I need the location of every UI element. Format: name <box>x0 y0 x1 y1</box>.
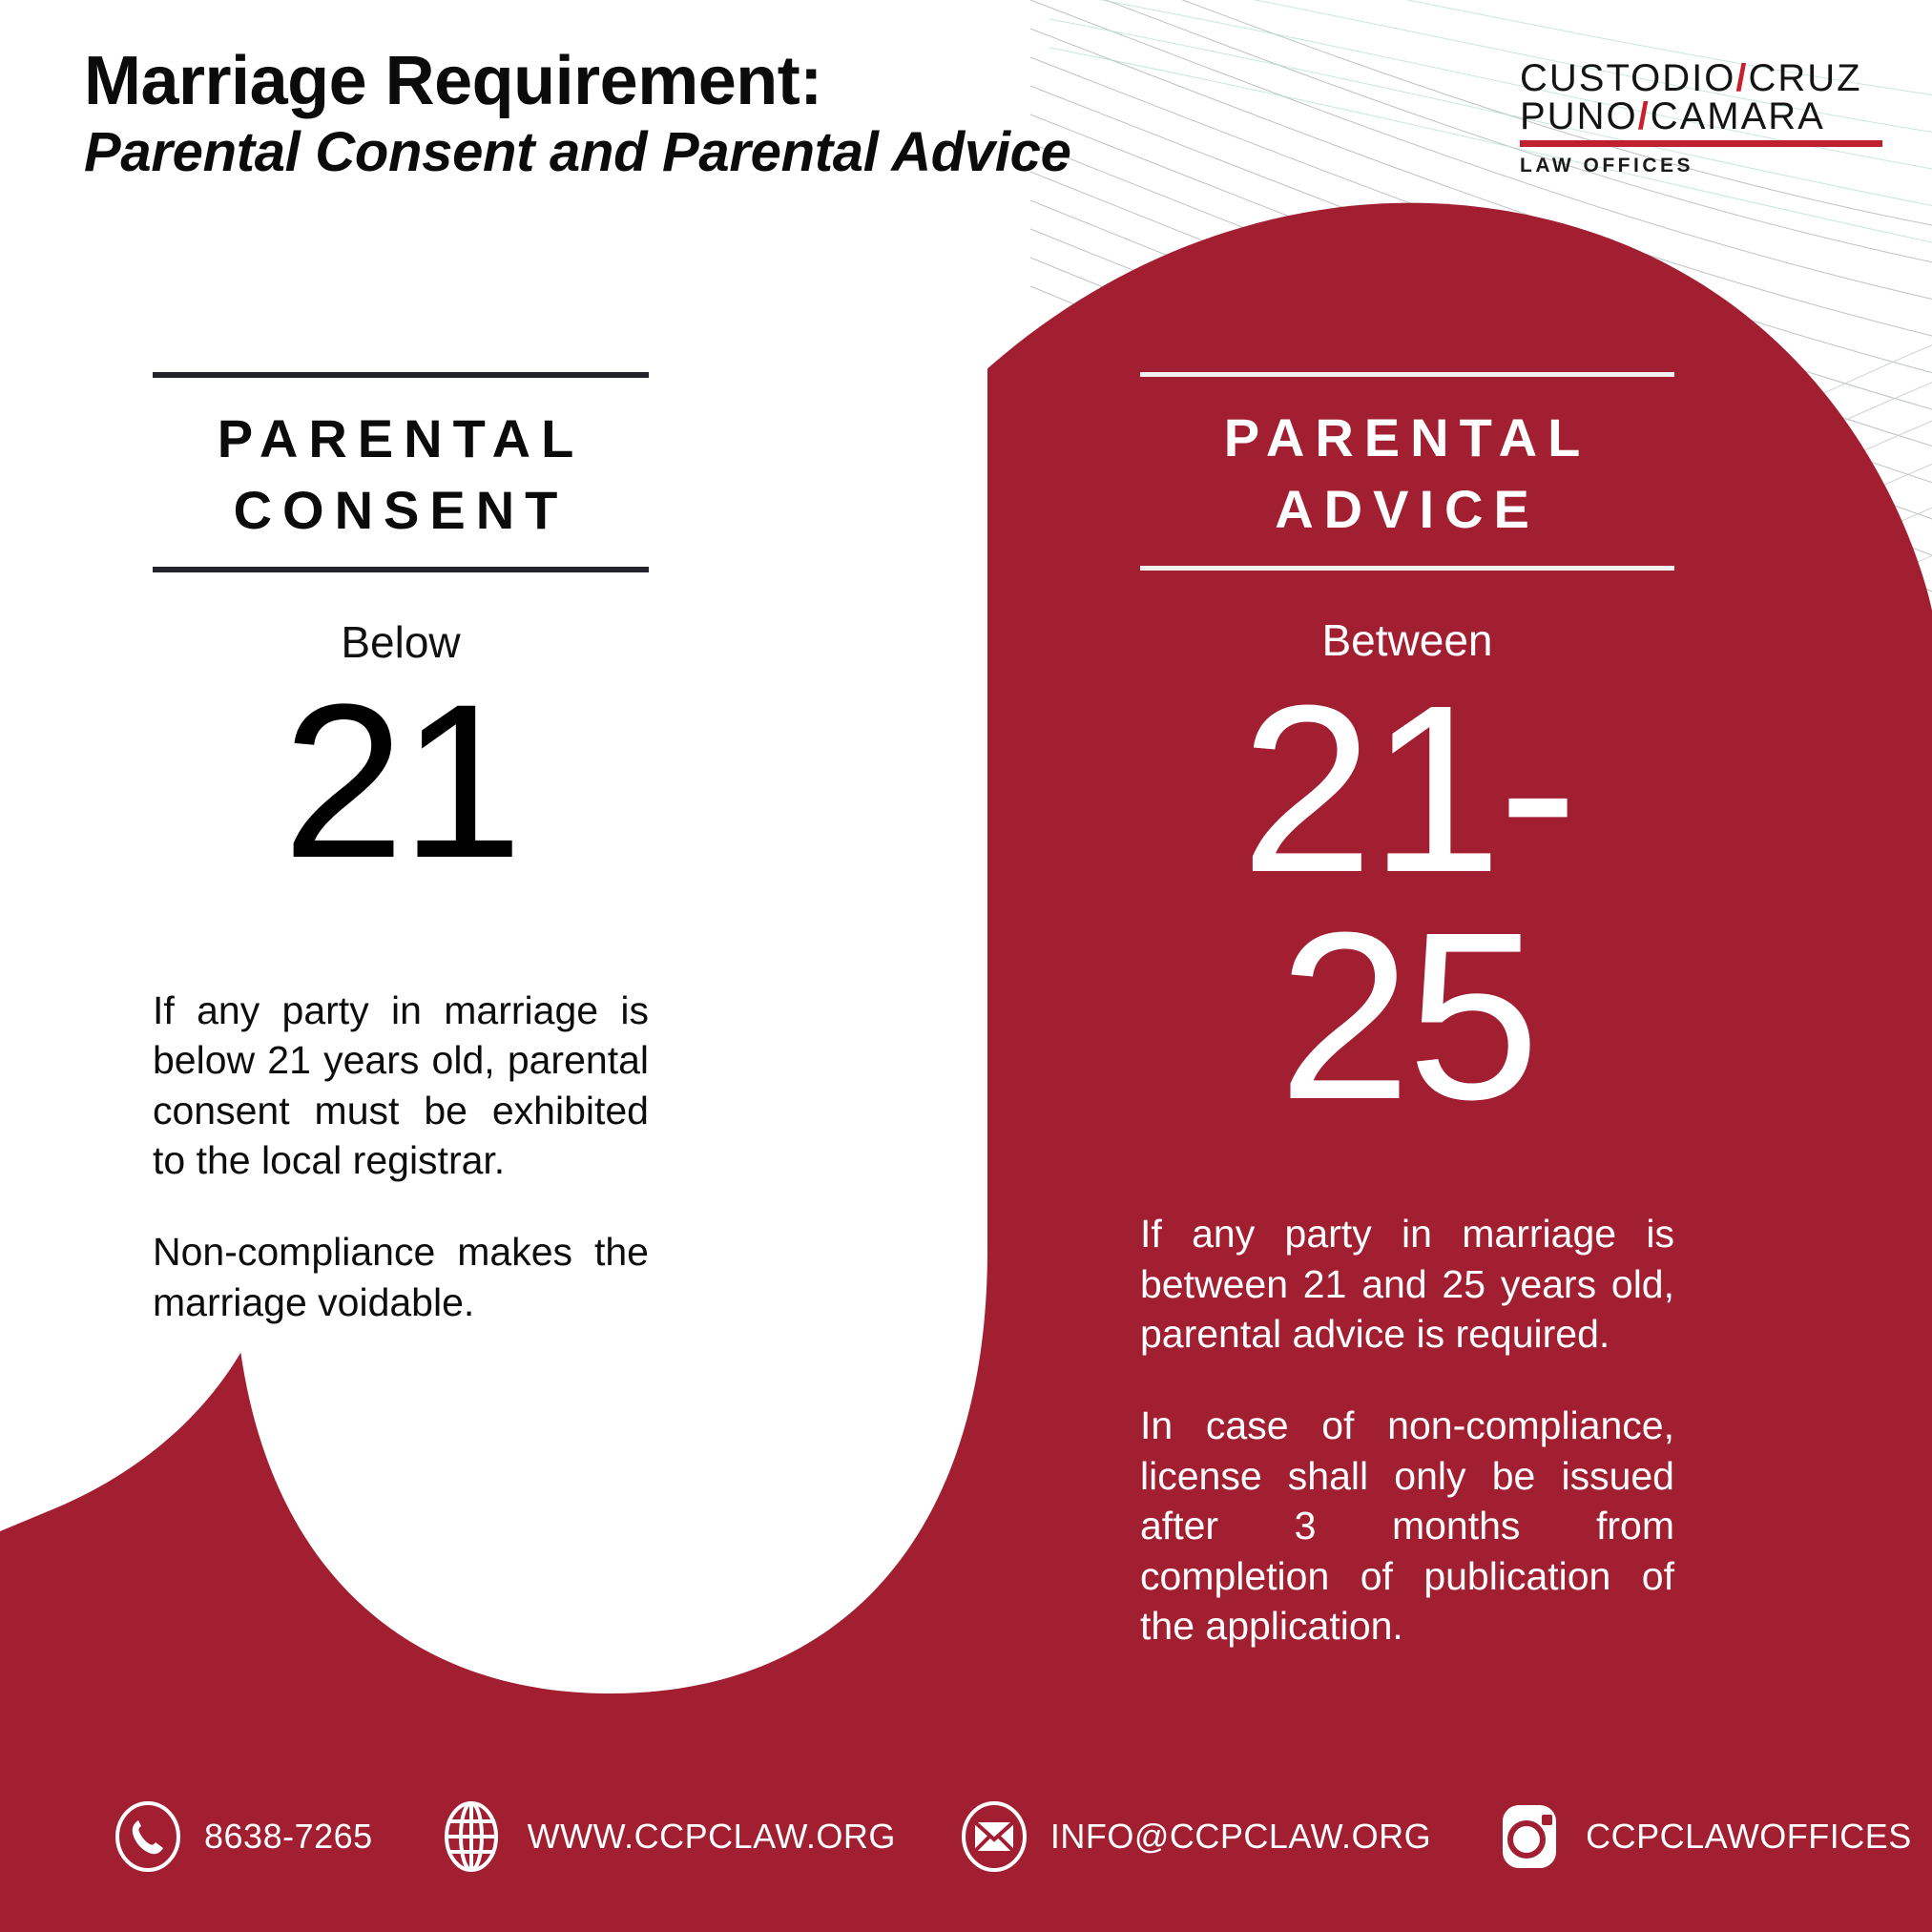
age-value-21-25: 21-25 <box>1140 675 1674 1129</box>
panel-rule-bottom <box>1140 566 1674 571</box>
panel-parental-consent: PARENTAL CONSENT Below 21 If any party i… <box>153 372 649 1327</box>
logo-tagline: LAW OFFICES <box>1520 155 1882 177</box>
contact-instagram-text: CCPCLAWOFFICES <box>1586 1817 1912 1857</box>
logo-line-1: CUSTODIO/CRUZ <box>1520 59 1882 97</box>
law-firm-logo: CUSTODIO/CRUZ PUNO/CAMARA LAW OFFICES <box>1520 59 1882 177</box>
contact-email[interactable]: INFO@CCPCLAW.ORG <box>959 1801 1431 1872</box>
contact-website[interactable]: WWW.CCPCLAW.ORG <box>436 1801 896 1872</box>
envelope-icon <box>959 1801 1029 1872</box>
paragraph: Non-compliance makes the marriage voidab… <box>153 1227 649 1327</box>
phone-icon <box>113 1801 183 1872</box>
contact-phone-text: 8638-7265 <box>204 1817 373 1857</box>
logo-word-puno: PUNO <box>1520 95 1638 137</box>
infographic-poster: Marriage Requirement: Parental Consent a… <box>0 0 1932 1932</box>
contact-email-text: INFO@CCPCLAW.ORG <box>1050 1817 1431 1857</box>
panel-rule-bottom <box>153 567 649 572</box>
logo-word-camara: CAMARA <box>1651 95 1825 137</box>
logo-word-custodio: CUSTODIO <box>1520 57 1735 99</box>
contact-phone[interactable]: 8638-7265 <box>113 1801 373 1872</box>
paragraph: If any party in marriage is below 21 yea… <box>153 986 649 1186</box>
paragraph: In case of non-compliance, license shall… <box>1140 1401 1674 1651</box>
logo-slash-1: / <box>1735 57 1748 99</box>
panel-title-parental-advice: PARENTAL ADVICE <box>1140 377 1674 566</box>
panel-parental-advice: PARENTAL ADVICE Between 21-25 If any par… <box>1140 372 1674 1652</box>
logo-word-cruz: CRUZ <box>1749 57 1862 99</box>
logo-slash-2: / <box>1638 95 1651 137</box>
instagram-icon <box>1494 1801 1565 1872</box>
contact-instagram[interactable]: CCPCLAWOFFICES <box>1494 1801 1912 1872</box>
page-subtitle: Parental Consent and Parental Advice <box>84 124 1071 182</box>
panel-title-parental-consent: PARENTAL CONSENT <box>153 378 649 567</box>
panel-body-consent: If any party in marriage is below 21 yea… <box>153 986 649 1328</box>
globe-icon <box>436 1801 507 1872</box>
paragraph: If any party in marriage is between 21 a… <box>1140 1209 1674 1359</box>
footer-contact-bar: 8638-7265 WWW.CCPCLAW.ORG <box>0 1741 1932 1932</box>
panel-body-advice: If any party in marriage is between 21 a… <box>1140 1209 1674 1652</box>
age-value-21: 21 <box>153 677 649 886</box>
logo-line-2: PUNO/CAMARA <box>1520 97 1882 135</box>
page-title: Marriage Requirement: <box>84 46 822 118</box>
contact-website-text: WWW.CCPCLAW.ORG <box>528 1817 896 1857</box>
logo-underline-rule <box>1520 140 1882 147</box>
